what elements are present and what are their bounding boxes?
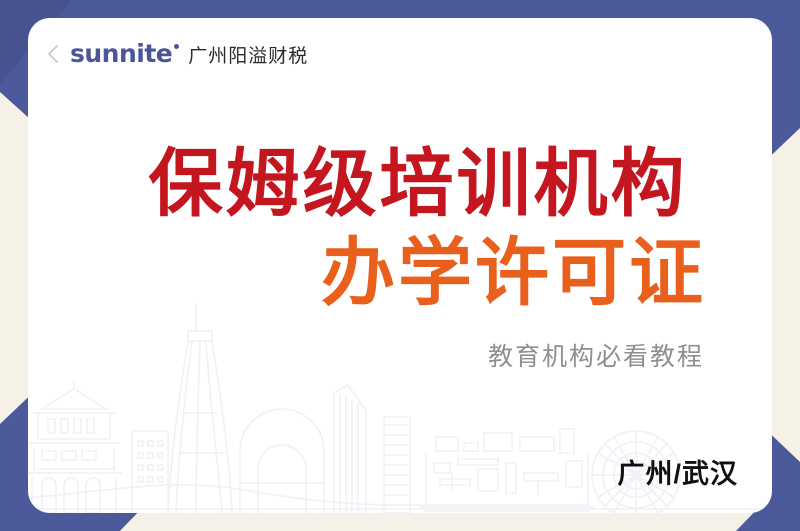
city-label: 广州/武汉 [617,452,738,491]
content-card: sunnite 广州阳溢财税 保姆级培训机构 办学许可证 教育机构必看教程 广州… [28,18,772,513]
headline-line-2: 办学许可证 [108,233,728,313]
brand-name-cn: 广州阳溢财税 [188,41,308,68]
brand[interactable]: sunnite 广州阳溢财税 [70,41,308,68]
chevron-left-icon[interactable] [42,43,64,65]
brand-logo-text: sunnite [70,41,172,66]
headline-line-1: 保姆级培训机构 [108,146,728,221]
headline-block: 保姆级培训机构 办学许可证 教育机构必看教程 [28,146,772,373]
card-header: sunnite 广州阳溢财税 [28,18,772,90]
registered-dot-mark [174,44,179,49]
promo-banner: sunnite 广州阳溢财税 保姆级培训机构 办学许可证 教育机构必看教程 广州… [0,0,800,531]
headline-subtitle: 教育机构必看教程 [108,337,728,373]
